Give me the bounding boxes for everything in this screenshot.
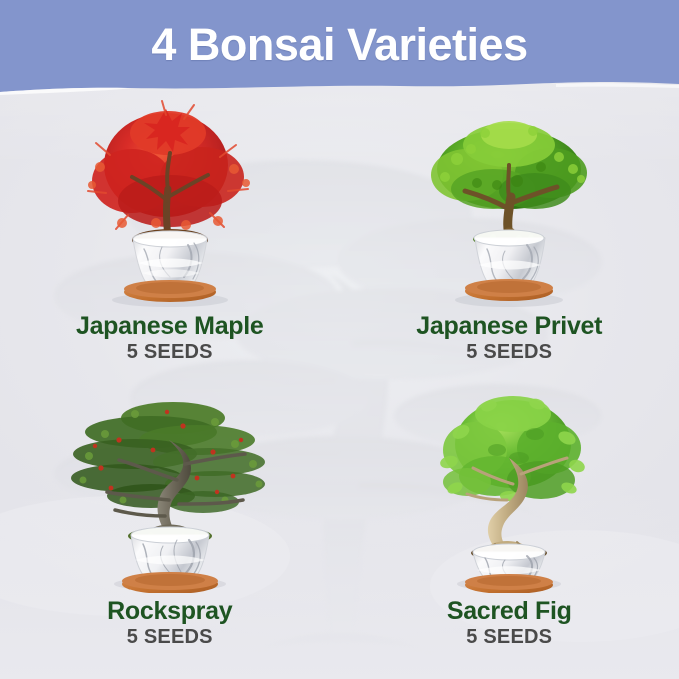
product-card-sacred-fig[interactable]: Sacred Fig 5 SEEDS (340, 388, 679, 679)
header-banner: 4 Bonsai Varieties (0, 0, 679, 97)
page-title: 4 Bonsai Varieties (0, 0, 679, 90)
product-seed-count: 5 SEEDS (340, 340, 679, 365)
product-image-japanese-privet (340, 97, 679, 309)
product-name: Japanese Maple (0, 313, 340, 339)
product-seed-count: 5 SEEDS (0, 340, 340, 365)
product-seed-count: 5 SEEDS (340, 625, 679, 650)
product-name: Sacred Fig (340, 598, 679, 624)
product-caption-sacred-fig: Sacred Fig 5 SEEDS (340, 598, 679, 650)
product-caption-rockspray: Rockspray 5 SEEDS (0, 598, 340, 650)
product-card-rockspray[interactable]: Rockspray 5 SEEDS (0, 388, 340, 679)
product-infographic: 4 Bonsai Varieties (0, 0, 679, 679)
product-caption-japanese-privet: Japanese Privet 5 SEEDS (340, 313, 679, 365)
product-image-rockspray (0, 388, 340, 593)
product-name: Rockspray (0, 598, 340, 624)
product-grid: Japanese Maple 5 SEEDS (0, 97, 679, 679)
product-name: Japanese Privet (340, 313, 679, 339)
product-card-japanese-maple[interactable]: Japanese Maple 5 SEEDS (0, 97, 340, 388)
product-caption-japanese-maple: Japanese Maple 5 SEEDS (0, 313, 340, 365)
product-seed-count: 5 SEEDS (0, 625, 340, 650)
product-image-sacred-fig (340, 388, 679, 593)
product-image-japanese-maple (0, 97, 340, 309)
product-card-japanese-privet[interactable]: Japanese Privet 5 SEEDS (340, 97, 679, 388)
